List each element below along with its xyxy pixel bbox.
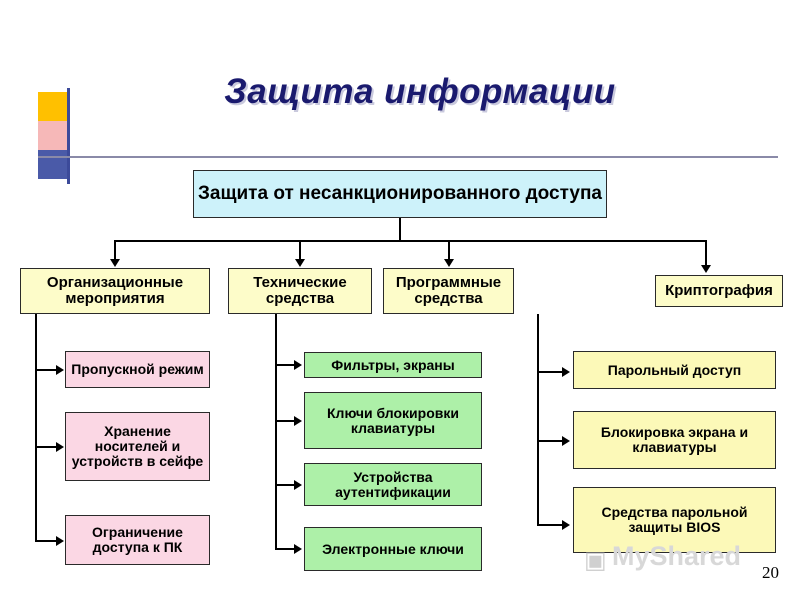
arrow-right-tech-1-icon bbox=[294, 360, 302, 370]
connector-drop-cryptography bbox=[705, 240, 707, 266]
connector-technical-spine bbox=[275, 314, 277, 550]
connector-tech-item-4 bbox=[275, 548, 295, 550]
node-technical: Технические средства bbox=[228, 268, 372, 314]
arrow-down-organizational-icon bbox=[110, 259, 120, 267]
decoration-vertical-rule bbox=[67, 88, 70, 184]
node-software: Программные средства bbox=[383, 268, 514, 314]
node-organizational: Организационные мероприятия bbox=[20, 268, 210, 314]
connector-organizational-spine bbox=[35, 314, 37, 542]
connector-drop-software bbox=[448, 240, 450, 260]
decoration-horizontal-rule bbox=[38, 156, 778, 158]
leaf-software-1: Парольный доступ bbox=[573, 351, 776, 389]
connector-org-item-1 bbox=[35, 369, 57, 371]
arrow-right-org-2-icon bbox=[56, 442, 64, 452]
leaf-software-2: Блокировка экрана и клавиатуры bbox=[573, 411, 776, 469]
arrow-down-technical-icon bbox=[295, 259, 305, 267]
arrow-right-soft-2-icon bbox=[562, 436, 570, 446]
decoration-square-pink bbox=[38, 121, 67, 150]
connector-software-spine bbox=[537, 314, 539, 526]
slide-canvas: Защита информации Защита от несанкционир… bbox=[0, 0, 800, 600]
arrow-right-tech-3-icon bbox=[294, 480, 302, 490]
connector-org-item-3 bbox=[35, 540, 57, 542]
decoration-square-orange bbox=[38, 92, 67, 121]
arrow-right-soft-3-icon bbox=[562, 520, 570, 530]
leaf-technical-2: Ключи блокировки клавиатуры bbox=[304, 392, 482, 449]
connector-tech-item-2 bbox=[275, 420, 295, 422]
connector-tech-item-3 bbox=[275, 484, 295, 486]
connector-drop-technical bbox=[299, 240, 301, 260]
arrow-right-tech-4-icon bbox=[294, 544, 302, 554]
watermark-text: MyShared bbox=[612, 541, 741, 572]
arrow-right-org-3-icon bbox=[56, 536, 64, 546]
leaf-technical-1: Фильтры, экраны bbox=[304, 352, 482, 378]
connector-root-trunk bbox=[399, 218, 401, 240]
watermark-logo-icon: ▣ bbox=[584, 548, 610, 574]
connector-soft-item-2 bbox=[537, 440, 563, 442]
decoration-square-blue bbox=[38, 150, 67, 179]
leaf-organizational-3: Ограничение доступа к ПК bbox=[65, 515, 210, 565]
arrow-right-tech-2-icon bbox=[294, 416, 302, 426]
arrow-right-soft-1-icon bbox=[562, 367, 570, 377]
arrow-right-org-1-icon bbox=[56, 365, 64, 375]
connector-drop-organizational bbox=[114, 240, 116, 260]
leaf-technical-3: Устройства аутентификации bbox=[304, 463, 482, 506]
leaf-technical-4: Электронные ключи bbox=[304, 527, 482, 571]
node-cryptography: Криптография bbox=[655, 275, 783, 307]
connector-soft-item-1 bbox=[537, 371, 563, 373]
connector-tech-item-1 bbox=[275, 364, 295, 366]
connector-distribution-bar bbox=[114, 240, 705, 242]
node-root: Защита от несанкционированного доступа bbox=[193, 170, 607, 218]
connector-soft-item-3 bbox=[537, 524, 563, 526]
leaf-organizational-1: Пропускной режим bbox=[65, 351, 210, 388]
leaf-organizational-2: Хранение носителей и устройств в сейфе bbox=[65, 412, 210, 481]
page-number: 20 bbox=[762, 563, 779, 583]
slide-title: Защита информации bbox=[90, 72, 750, 112]
arrow-down-cryptography-icon bbox=[701, 265, 711, 273]
connector-org-item-2 bbox=[35, 446, 57, 448]
arrow-down-software-icon bbox=[444, 259, 454, 267]
